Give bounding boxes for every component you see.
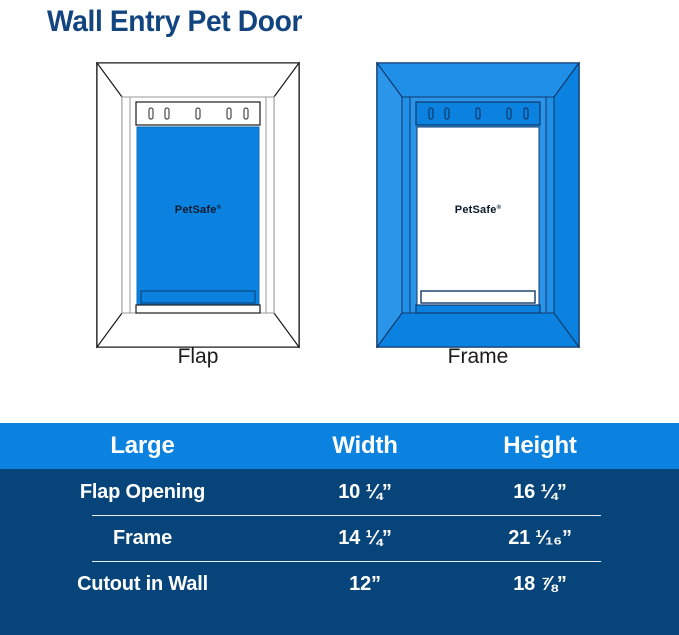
row-label: Cutout in Wall (0, 573, 285, 596)
row-width: 12” (285, 573, 445, 596)
diagram-frame: PetSafe® Frame (328, 55, 628, 400)
table-header-row: Large Width Height (0, 423, 679, 469)
row-label: Frame (0, 527, 285, 550)
table-row: Flap Opening 10 ¼” 16 ¼” (0, 469, 679, 515)
diagram-group: PetSafe® Flap (0, 55, 679, 400)
page-title: Wall Entry Pet Door (47, 2, 302, 42)
header-width: Width (285, 432, 445, 460)
table-body: Flap Opening 10 ¼” 16 ¼” Frame 14 ¼” 21 … (0, 469, 679, 607)
pet-door-flap-illustration: PetSafe® (48, 55, 348, 355)
brand-logo-text: PetSafe® (175, 204, 222, 216)
table-row: Cutout in Wall 12” 18 ⅞” (0, 561, 679, 607)
diagram-caption-frame: Frame (328, 345, 628, 369)
table-row: Frame 14 ¼” 21 ¹⁄₁₆” (0, 515, 679, 561)
pet-door-frame-illustration: PetSafe® (328, 55, 628, 355)
brand-logo-text: PetSafe® (455, 204, 502, 216)
row-height: 16 ¼” (445, 481, 635, 504)
row-height: 18 ⅞” (445, 573, 635, 596)
diagram-caption-flap: Flap (48, 345, 348, 369)
row-width: 14 ¼” (285, 527, 445, 550)
diagram-flap: PetSafe® Flap (48, 55, 348, 400)
row-label: Flap Opening (0, 481, 285, 504)
header-height: Height (445, 432, 635, 460)
specifications-table: Large Width Height Flap Opening 10 ¼” 16… (0, 423, 679, 635)
row-height: 21 ¹⁄₁₆” (445, 527, 635, 550)
row-width: 10 ¼” (285, 481, 445, 504)
header-size: Large (0, 432, 285, 460)
